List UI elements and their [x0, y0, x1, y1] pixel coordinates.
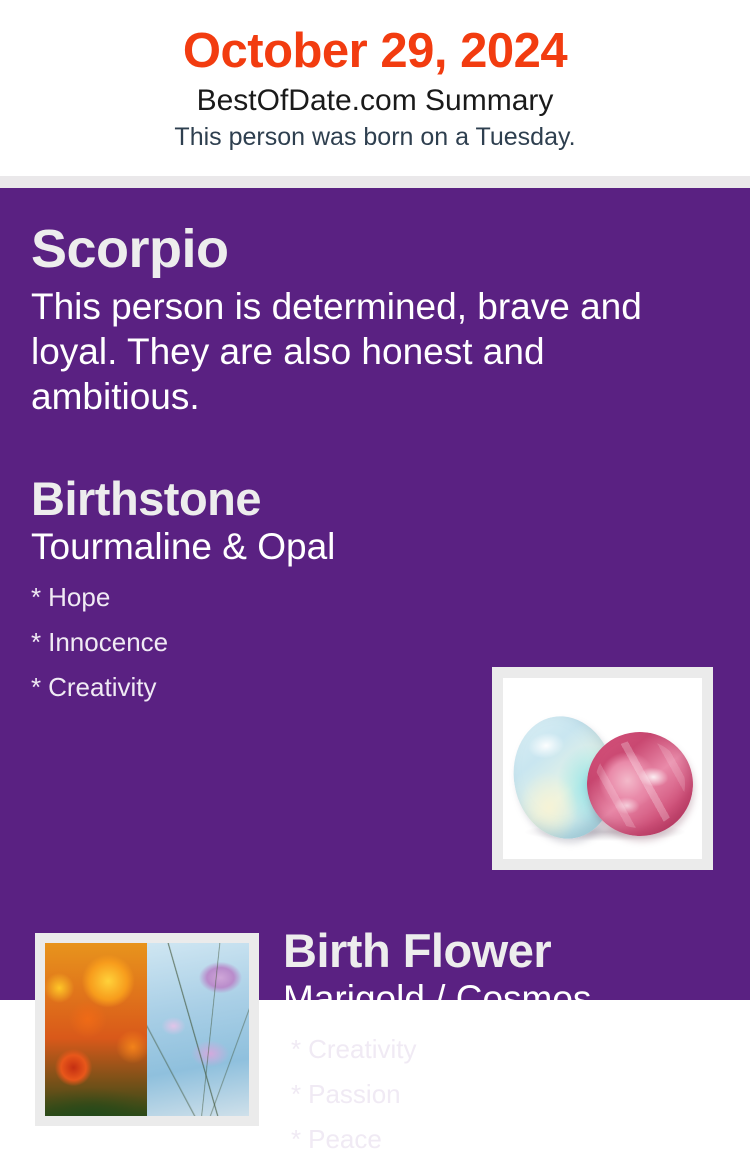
zodiac-section: Scorpio This person is determined, brave…	[31, 218, 721, 419]
summary-card: October 29, 2024 BestOfDate.com Summary …	[0, 0, 750, 1000]
birth-flower-trait-label: Passion	[308, 1079, 401, 1109]
cosmos-photo-icon	[147, 943, 249, 1116]
list-item: *Innocence	[31, 620, 471, 665]
list-item: *Creativity	[291, 1027, 733, 1072]
birth-flower-image-frame	[35, 933, 259, 1126]
birthstone-section: Birthstone Tourmaline & Opal *Hope *Inno…	[31, 472, 471, 710]
page-title-date: October 29, 2024	[0, 22, 750, 80]
bullet-star-icon: *	[31, 672, 41, 702]
marigold-photo-icon	[45, 943, 147, 1116]
zodiac-description: This person is determined, brave and loy…	[31, 284, 691, 419]
bullet-star-icon: *	[31, 582, 41, 612]
bullet-star-icon: *	[31, 627, 41, 657]
birthstone-trait-list: *Hope *Innocence *Creativity	[31, 575, 471, 710]
birthstone-trait-label: Innocence	[48, 627, 168, 657]
birthstone-heading: Birthstone	[31, 472, 471, 526]
list-item: *Passion	[291, 1072, 733, 1117]
bullet-star-icon: *	[291, 1034, 301, 1064]
bullet-star-icon: *	[291, 1079, 301, 1109]
content-panel: Scorpio This person is determined, brave…	[0, 188, 750, 1000]
birth-flower-trait-list: *Creativity *Passion *Peace	[291, 1027, 733, 1162]
birthstone-trait-label: Creativity	[48, 672, 156, 702]
birth-flower-section: Birth Flower Marigold / Cosmos *Creativi…	[283, 924, 733, 1162]
born-day-text: This person was born on a Tuesday.	[0, 121, 750, 153]
bullet-star-icon: *	[291, 1124, 301, 1154]
site-summary-label: BestOfDate.com Summary	[0, 82, 750, 120]
birth-flower-trait-label: Creativity	[308, 1034, 416, 1064]
birthstone-image	[503, 678, 702, 859]
birth-flower-trait-label: Peace	[308, 1124, 382, 1154]
list-item: *Peace	[291, 1117, 733, 1162]
list-item: *Hope	[31, 575, 471, 620]
list-item: *Creativity	[31, 665, 471, 710]
birth-flower-heading: Birth Flower	[283, 924, 733, 978]
header-divider	[0, 176, 750, 188]
birth-flower-image	[45, 943, 249, 1116]
birthstone-image-frame	[492, 667, 713, 870]
birthstone-names: Tourmaline & Opal	[31, 525, 471, 569]
zodiac-sign-title: Scorpio	[31, 218, 721, 280]
birthstone-trait-label: Hope	[48, 582, 110, 612]
header: October 29, 2024 BestOfDate.com Summary …	[0, 0, 750, 176]
birth-flower-names: Marigold / Cosmos	[283, 977, 733, 1021]
